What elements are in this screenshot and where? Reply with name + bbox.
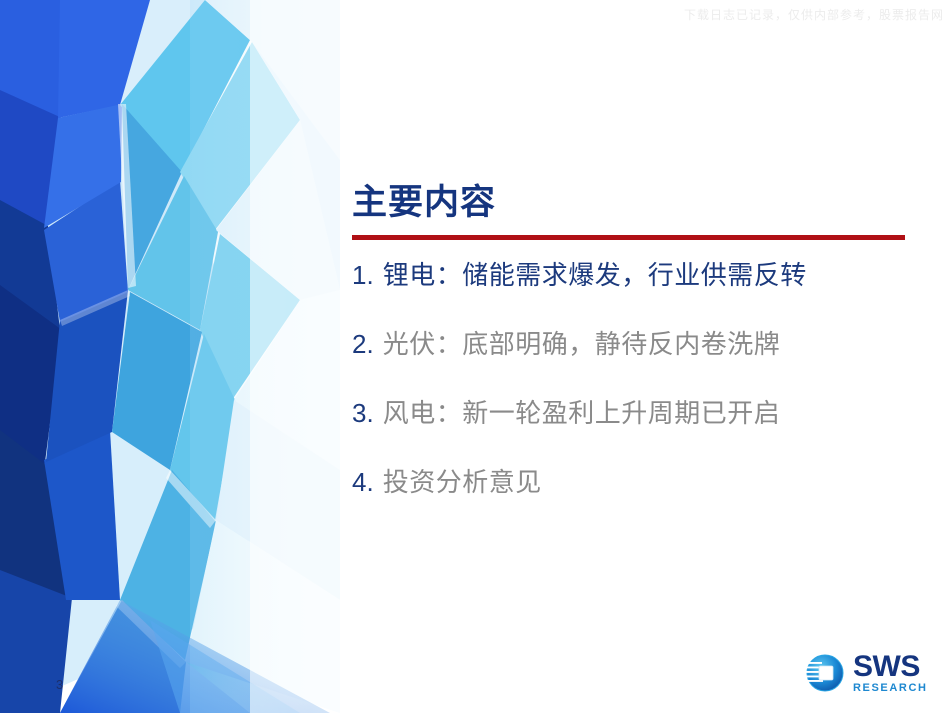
toc-item-1[interactable]: 1. 锂电：储能需求爆发，行业供需反转 (352, 262, 912, 331)
table-of-contents: 1. 锂电：储能需求爆发，行业供需反转 2. 光伏：底部明确，静待反内卷洗牌 3… (352, 262, 912, 538)
slide-content: 主要内容 1. 锂电：储能需求爆发，行业供需反转 2. 光伏：底部明确，静待反内… (352, 185, 912, 554)
toc-item-label: 风电：新一轮盈利上升周期已开启 (383, 400, 781, 426)
title-underline-rule (352, 235, 905, 240)
toc-item-label: 投资分析意见 (383, 469, 542, 495)
sws-globe-icon (800, 649, 848, 697)
toc-item-4[interactable]: 4. 投资分析意见 (352, 469, 912, 538)
toc-item-2[interactable]: 2. 光伏：底部明确，静待反内卷洗牌 (352, 331, 912, 400)
logo-name: SWS (853, 652, 928, 682)
logo-wordmark: SWS RESEARCH (853, 652, 928, 694)
presentation-slide: 下载日志已记录，仅供内部参考，股票报告网 3 主要内容 1. 锂电：储能需求爆发… (0, 0, 950, 713)
toc-item-3[interactable]: 3. 风电：新一轮盈利上升周期已开启 (352, 400, 912, 469)
toc-item-number: 3. (352, 400, 374, 426)
logo-subtitle: RESEARCH (853, 683, 928, 694)
toc-item-label: 锂电：储能需求爆发，行业供需反转 (383, 262, 807, 288)
toc-item-number: 4. (352, 469, 374, 495)
toc-item-number: 2. (352, 331, 374, 357)
sws-research-logo: SWS RESEARCH (800, 648, 942, 698)
toc-item-number: 1. (352, 262, 374, 288)
geometric-background-art (0, 0, 340, 713)
page-number: 3 (56, 677, 63, 692)
download-watermark: 下载日志已记录，仅供内部参考，股票报告网 (684, 6, 944, 23)
page-title: 主要内容 (352, 185, 912, 222)
toc-item-label: 光伏：底部明确，静待反内卷洗牌 (383, 331, 781, 357)
